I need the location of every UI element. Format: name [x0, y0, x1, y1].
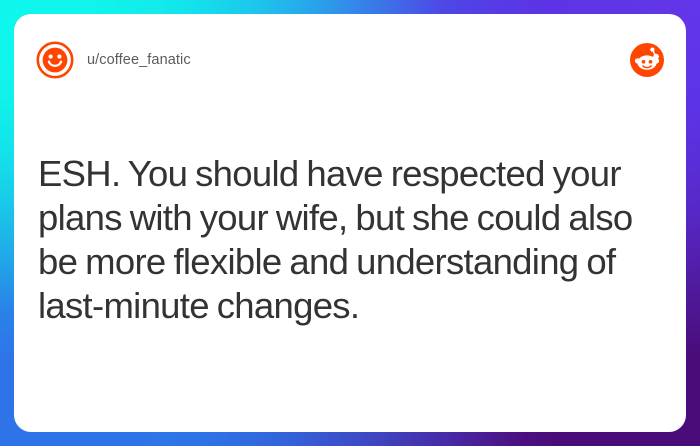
- reddit-snoo-logo-icon[interactable]: [630, 43, 664, 77]
- username-label: u/coffee_fanatic: [87, 52, 191, 68]
- post-text: ESH. You should have respected your plan…: [38, 152, 668, 328]
- gradient-background: u/coffee_fanatic ESH. You should have re…: [0, 0, 700, 446]
- smiley-face-avatar-icon[interactable]: [36, 41, 74, 79]
- card-header: u/coffee_fanatic: [36, 36, 664, 84]
- post-card: u/coffee_fanatic ESH. You should have re…: [14, 14, 686, 432]
- card-body: ESH. You should have respected your plan…: [38, 152, 668, 328]
